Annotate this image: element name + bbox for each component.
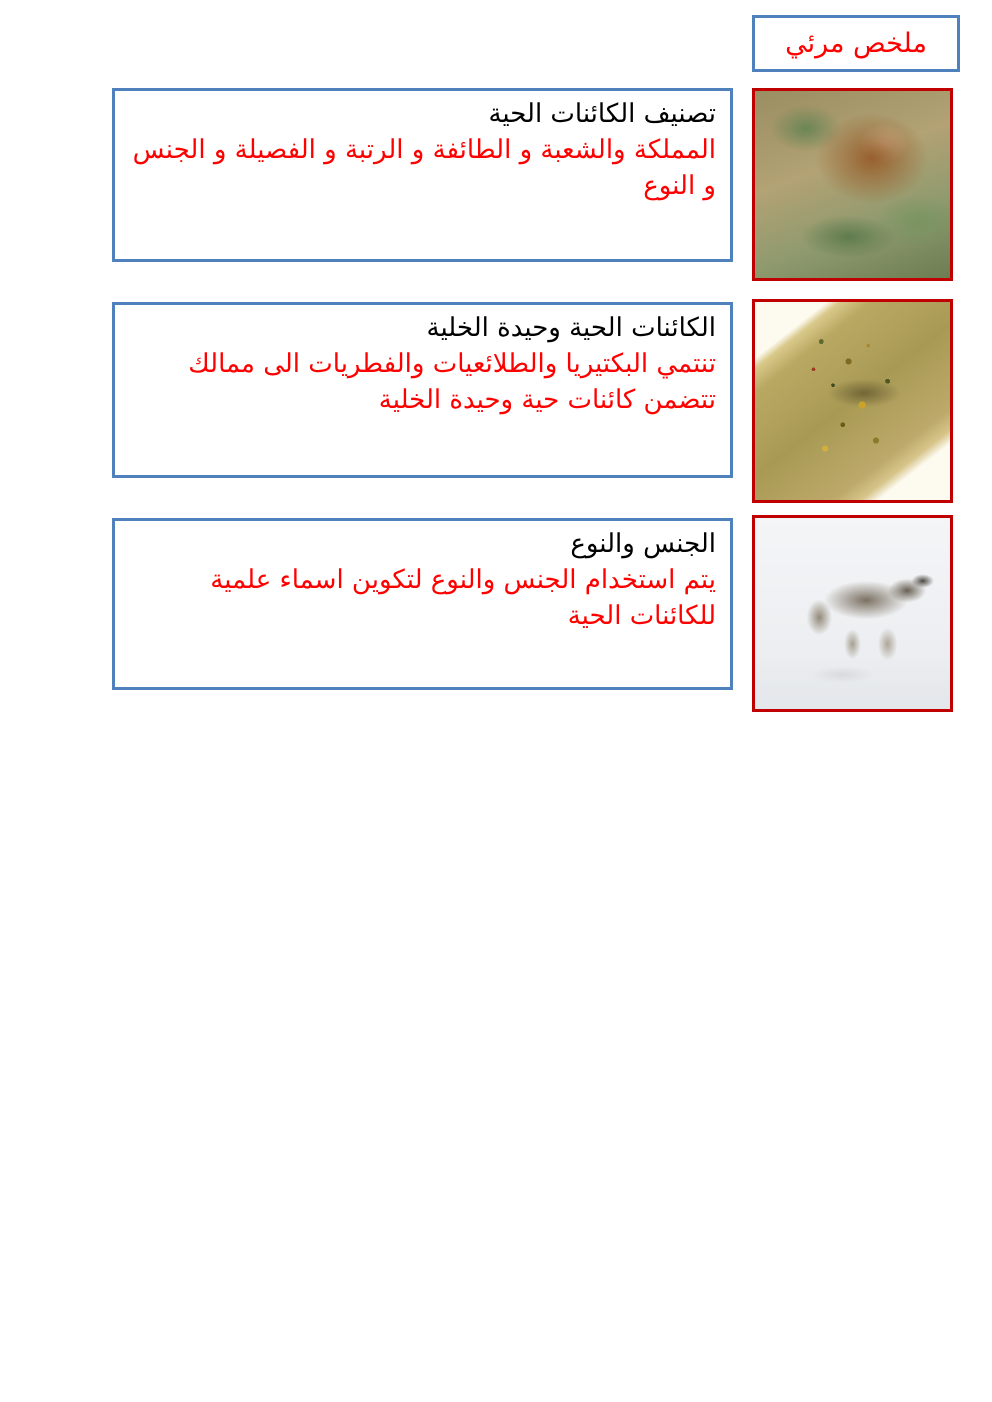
visual-summary-header-box: ملخص مرئي (752, 15, 960, 72)
summary-card-1-body: المملكة والشعبة و الطائفة و الرتبة و الف… (129, 133, 716, 205)
microscope-single-cell-organism-photo (755, 302, 950, 500)
summary-row-1: تصنيف الكائنات الحية المملكة والشعبة و ا… (0, 88, 992, 262)
summary-image-frame-1 (752, 88, 953, 281)
page-canvas: ملخص مرئي تصنيف الكائنات الحية المملكة و… (0, 0, 992, 1402)
summary-card-3-body: يتم استخدام الجنس والنوع لتكوين اسماء عل… (129, 563, 716, 635)
visual-summary-title: ملخص مرئي (785, 29, 927, 59)
summary-card-2-heading: الكائنات الحية وحيدة الخلية (129, 311, 716, 345)
wolf-running-in-snow-photo (755, 518, 950, 709)
summary-card-1: تصنيف الكائنات الحية المملكة والشعبة و ا… (112, 88, 733, 262)
summary-card-1-heading: تصنيف الكائنات الحية (129, 97, 716, 131)
squirrel-on-pine-branch-photo (755, 91, 950, 278)
summary-row-3: الجنس والنوع يتم استخدام الجنس والنوع لت… (0, 518, 992, 690)
summary-card-3-heading: الجنس والنوع (129, 527, 716, 561)
summary-row-2: الكائنات الحية وحيدة الخلية تنتمي البكتي… (0, 302, 992, 478)
summary-card-2: الكائنات الحية وحيدة الخلية تنتمي البكتي… (112, 302, 733, 478)
summary-card-3: الجنس والنوع يتم استخدام الجنس والنوع لت… (112, 518, 733, 690)
summary-image-frame-2 (752, 299, 953, 503)
summary-card-2-body: تنتمي البكتيريا والطلائعيات والفطريات ال… (129, 347, 716, 419)
summary-image-frame-3 (752, 515, 953, 712)
